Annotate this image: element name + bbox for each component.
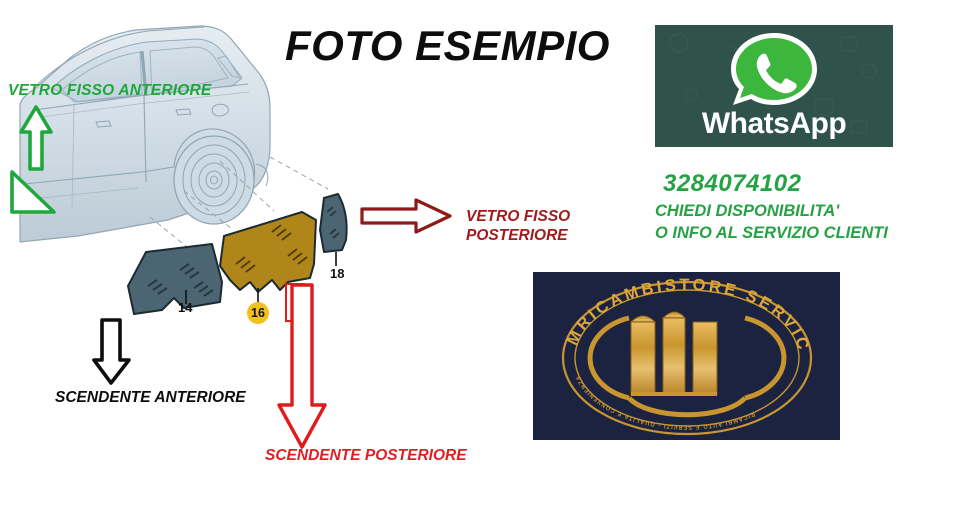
contact-info-line2: O INFO AL SERVIZIO CLIENTI — [655, 222, 888, 244]
whatsapp-banner: WhatsApp — [655, 25, 893, 147]
part-number-14: 14 — [178, 300, 192, 315]
company-logo: MRICAMBISTORE SERVICE DI RUSSO MARCO RIC… — [533, 272, 840, 440]
label-front-drop-glass: SCENDENTE ANTERIORE — [55, 389, 246, 407]
page-title: FOTO ESEMPIO — [285, 22, 610, 70]
company-logo-graphic: MRICAMBISTORE SERVICE DI RUSSO MARCO RIC… — [533, 272, 840, 440]
black-down-arrow-icon — [92, 318, 132, 386]
label-rear-fixed-glass: VETRO FISSO POSTERIORE — [466, 207, 570, 245]
label-rear-drop-glass: SCENDENTE POSTERIORE — [265, 447, 467, 465]
maroon-right-arrow-icon — [360, 198, 454, 234]
label-front-fixed-glass: VETRO FISSO ANTERIORE — [8, 82, 211, 100]
image-canvas: 14 16 17 18 — [0, 0, 963, 517]
contact-info-line1: CHIEDI DISPONIBILITA' — [655, 200, 888, 222]
contact-info: CHIEDI DISPONIBILITA' O INFO AL SERVIZIO… — [655, 200, 888, 244]
glass-part-14 — [124, 242, 226, 326]
phone-number: 3284074102 — [663, 170, 801, 198]
green-triangle-icon — [8, 168, 58, 216]
part-number-16-badge: 16 — [247, 302, 269, 324]
red-down-arrow-icon — [275, 283, 329, 451]
part-number-18: 18 — [330, 266, 344, 281]
whatsapp-wordmark: WhatsApp — [655, 107, 893, 141]
label-rear-fixed-glass-line2: POSTERIORE — [466, 226, 570, 245]
green-up-arrow-icon — [18, 104, 54, 172]
label-rear-fixed-glass-line1: VETRO FISSO — [466, 207, 570, 226]
whatsapp-icon — [717, 29, 831, 113]
